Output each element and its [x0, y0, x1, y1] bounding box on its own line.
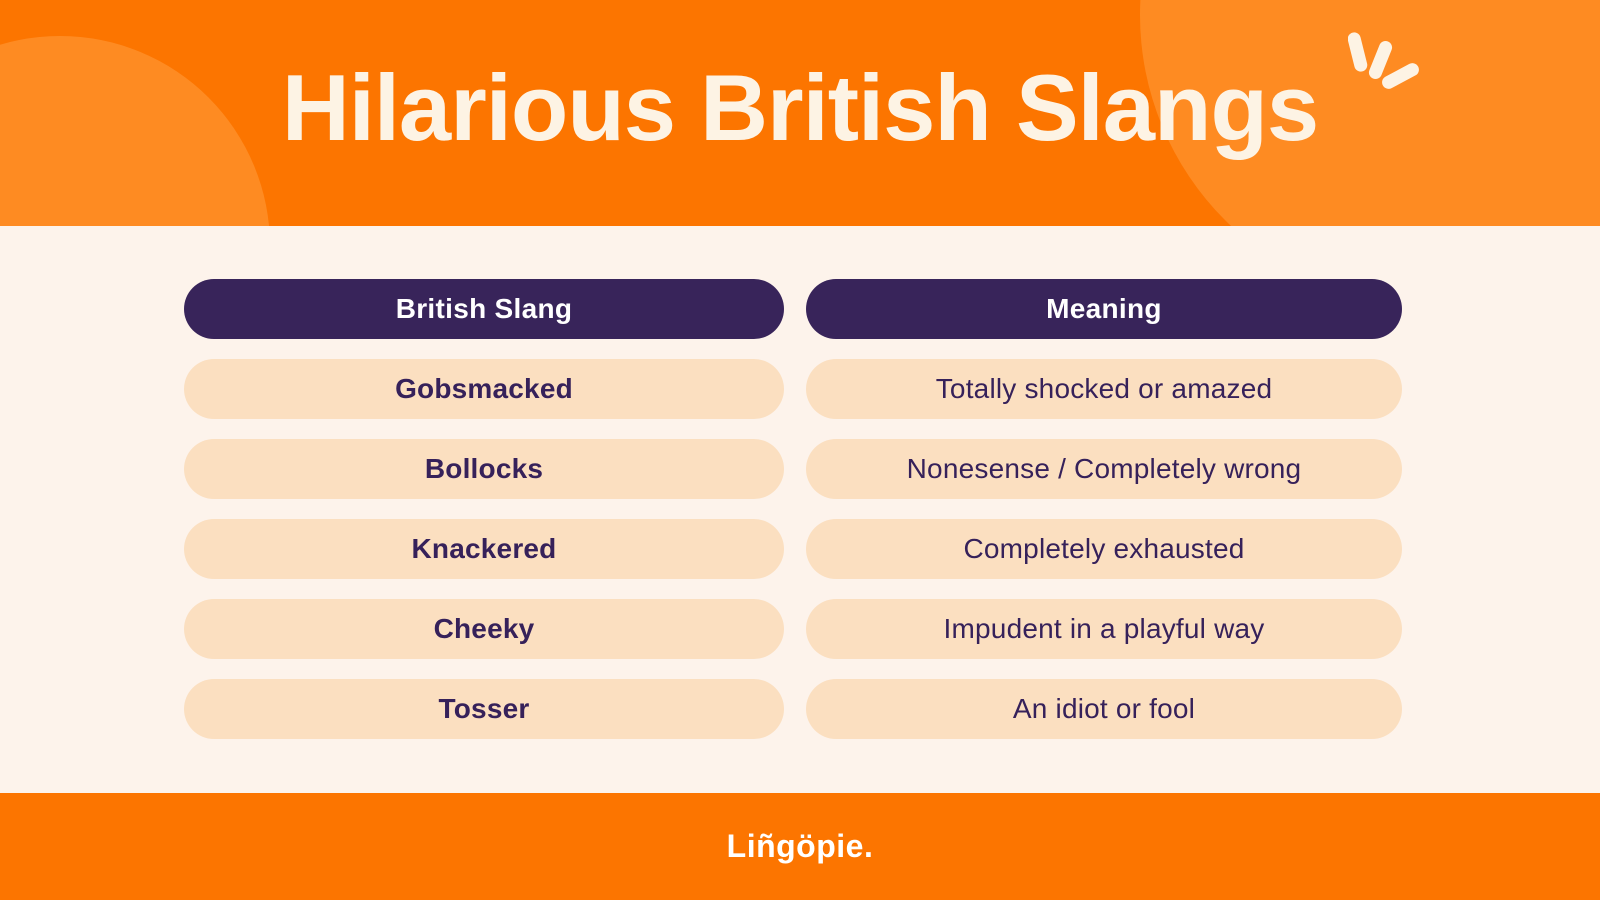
poster-canvas: Hilarious British Slangs British Slang M…: [0, 0, 1600, 900]
table-row: Cheeky Impudent in a playful way: [184, 599, 1402, 659]
cell-meaning: An idiot or fool: [806, 679, 1402, 739]
cell-slang: Knackered: [184, 519, 784, 579]
brand-logo: Liñgöpie.: [727, 828, 874, 865]
cell-meaning: Completely exhausted: [806, 519, 1402, 579]
table-row: Bollocks Nonesense / Completely wrong: [184, 439, 1402, 499]
table-header-row: British Slang Meaning: [184, 279, 1402, 339]
column-header-meaning: Meaning: [806, 279, 1402, 339]
cell-slang: Gobsmacked: [184, 359, 784, 419]
cell-meaning: Impudent in a playful way: [806, 599, 1402, 659]
table-row: Tosser An idiot or fool: [184, 679, 1402, 739]
column-header-british-slang: British Slang: [184, 279, 784, 339]
cell-slang: Bollocks: [184, 439, 784, 499]
sparkle-burst-icon: [1348, 28, 1428, 106]
cell-meaning: Totally shocked or amazed: [806, 359, 1402, 419]
table-row: Knackered Completely exhausted: [184, 519, 1402, 579]
cell-slang: Cheeky: [184, 599, 784, 659]
slang-table: British Slang Meaning Gobsmacked Totally…: [184, 279, 1402, 739]
cell-meaning: Nonesense / Completely wrong: [806, 439, 1402, 499]
table-row: Gobsmacked Totally shocked or amazed: [184, 359, 1402, 419]
cell-slang: Tosser: [184, 679, 784, 739]
footer-band: Liñgöpie.: [0, 793, 1600, 900]
